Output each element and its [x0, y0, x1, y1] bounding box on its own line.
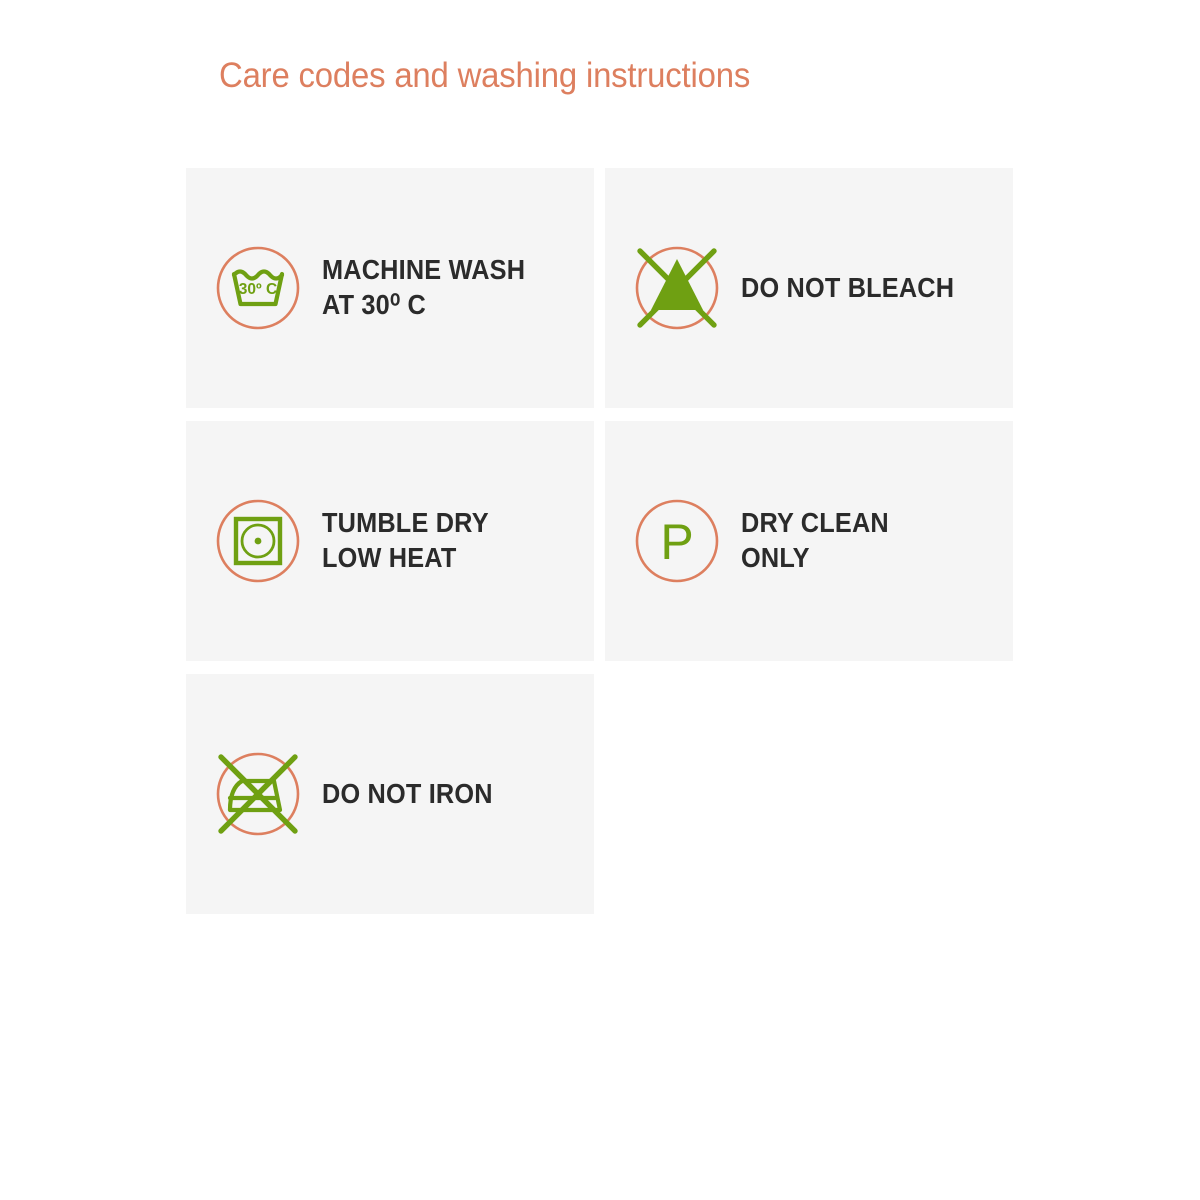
card-row: DO NOT IRON: [186, 674, 1014, 914]
care-codes-infographic: Care codes and washing instructions 30º …: [0, 0, 1200, 1200]
card-row: 30º C MACHINE WASH AT 30⁰ C: [186, 168, 1014, 408]
care-card-label: DO NOT IRON: [322, 777, 493, 812]
care-card-tumble-dry[interactable]: TUMBLE DRY LOW HEAT: [186, 421, 594, 661]
crossed-iron-icon: [190, 734, 326, 854]
care-card-label: DRY CLEAN ONLY: [741, 506, 889, 575]
care-card-do-not-bleach[interactable]: DO NOT BLEACH: [605, 168, 1013, 408]
care-card-label: MACHINE WASH AT 30⁰ C: [322, 253, 525, 322]
care-card-machine-wash[interactable]: 30º C MACHINE WASH AT 30⁰ C: [186, 168, 594, 408]
care-card-do-not-iron[interactable]: DO NOT IRON: [186, 674, 594, 914]
dry-clean-letter-text: P: [660, 514, 693, 570]
wash-basin-30c-icon: 30º C: [190, 228, 326, 348]
care-card-label: DO NOT BLEACH: [741, 271, 954, 306]
tumble-dry-square-icon: [190, 481, 326, 601]
card-row: TUMBLE DRY LOW HEAT P DRY CLEAN ONLY: [186, 421, 1014, 661]
page-title: Care codes and washing instructions: [219, 56, 750, 96]
crossed-triangle-icon: [609, 228, 745, 348]
care-codes-grid: 30º C MACHINE WASH AT 30⁰ C: [186, 168, 1014, 927]
care-card-dry-clean[interactable]: P DRY CLEAN ONLY: [605, 421, 1013, 661]
dry-clean-p-circle-icon: P: [609, 481, 745, 601]
wash-temperature-text: 30º C: [239, 281, 277, 298]
empty-grid-slot: [605, 674, 1013, 914]
care-card-label: TUMBLE DRY LOW HEAT: [322, 506, 489, 575]
